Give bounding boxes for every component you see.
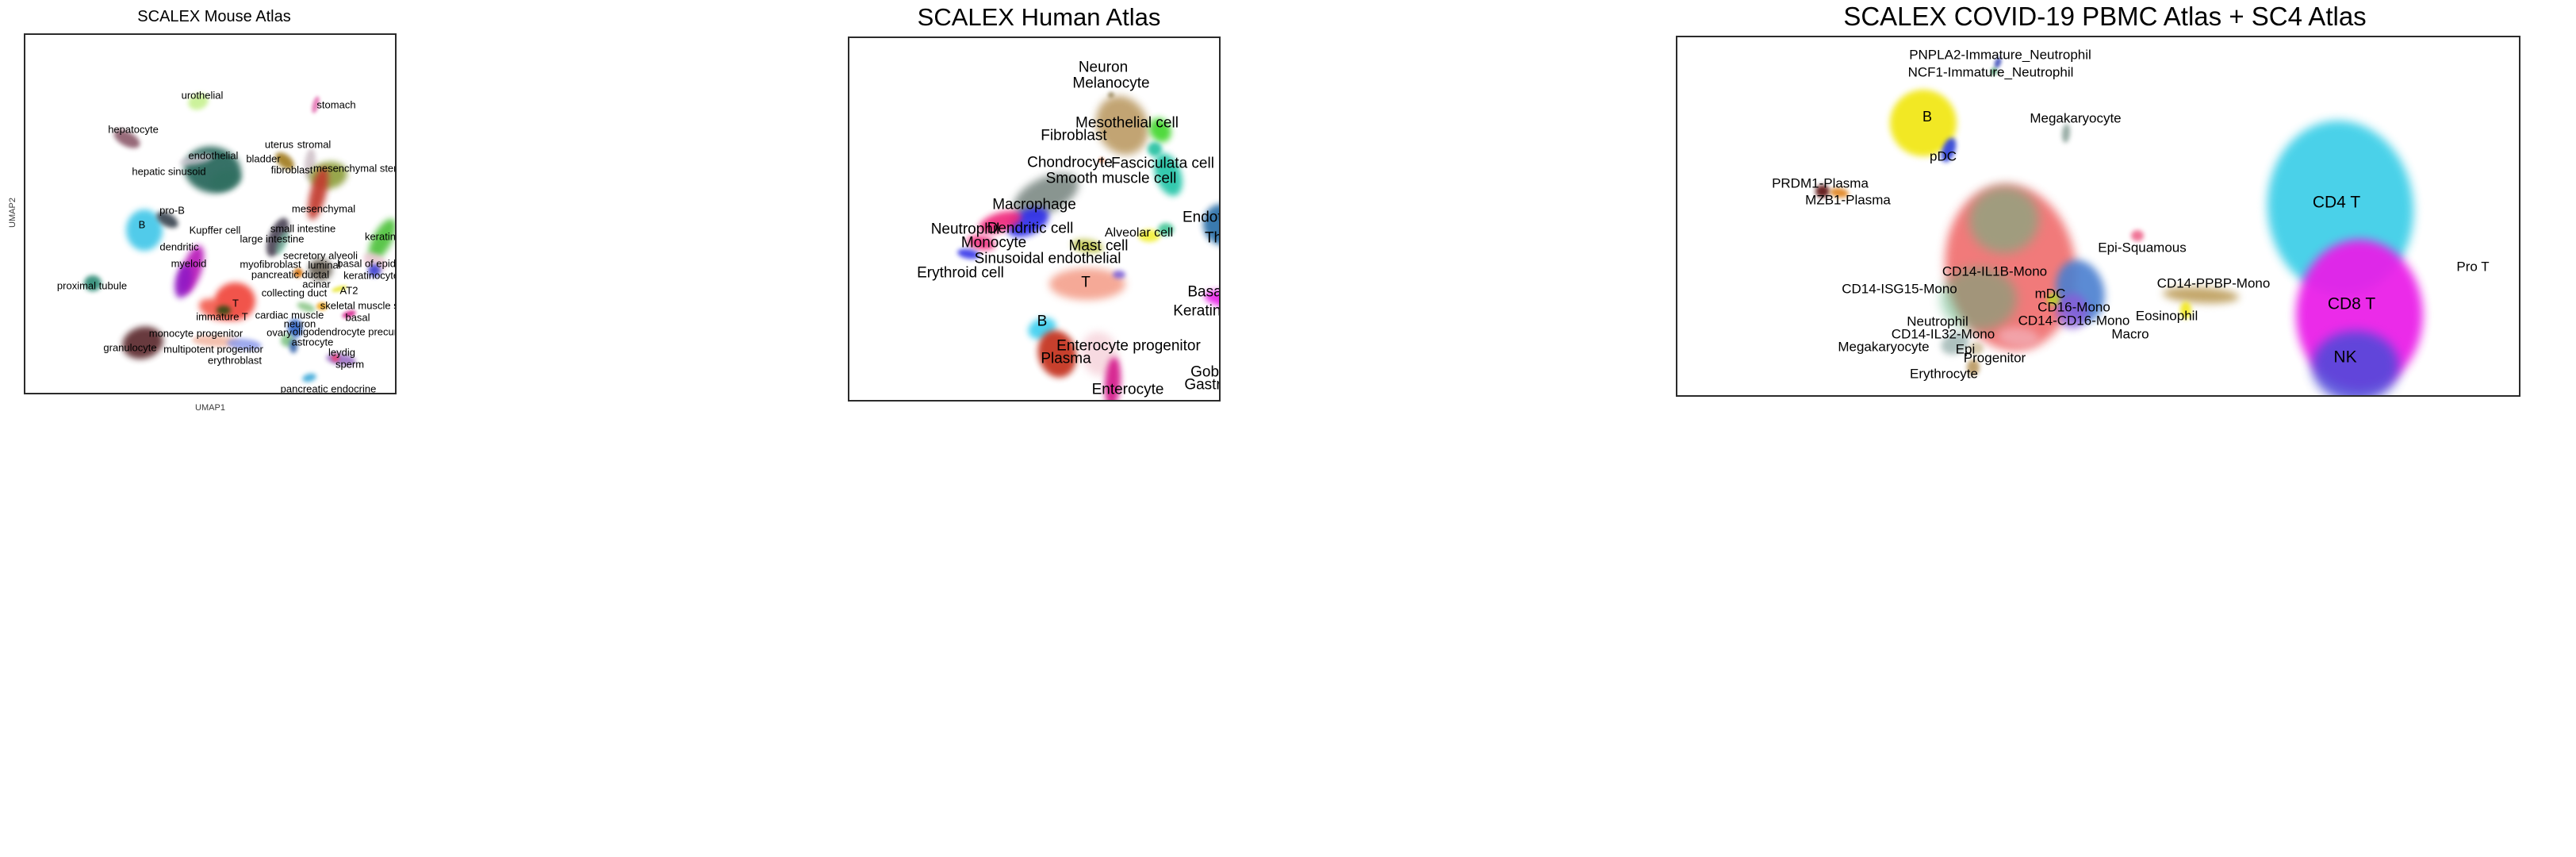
cell-type-label: Gastric chief cell — [1184, 378, 1221, 393]
cell-type-label: keratinocyte — [365, 232, 397, 242]
cell-type-label: pro-B — [159, 206, 185, 216]
cell-type-label: CD16-Mono — [2037, 301, 2110, 314]
panel-mouse-title: SCALEX Mouse Atlas — [0, 8, 428, 26]
cell-type-label: hepatic sinusoid — [132, 167, 205, 177]
cell-type-label: PRDM1-Plasma — [1772, 177, 1869, 190]
cell-type-label: bladder — [246, 154, 280, 164]
cell-type-label: Macrophage — [992, 198, 1076, 213]
cell-type-label: monocyte progenitor — [149, 329, 243, 339]
cell-type-label: erythroblast — [208, 355, 262, 366]
cell-type-label: Erythroid cell — [917, 266, 1004, 281]
cell-type-label: mesenchymal — [292, 204, 355, 214]
cell-type-label: uterus — [265, 140, 293, 150]
cell-type-label: PNPLA2-Immature_Neutrophil — [1909, 48, 2091, 62]
panel-mouse-plot-frame: urothelialstomachhepatocyteuterusstromal… — [24, 33, 397, 394]
cell-type-label: Pro T — [2456, 260, 2489, 274]
panel-mouse-y-axis-label: UMAP2 — [8, 189, 17, 236]
cell-type-label: B — [1922, 110, 1932, 124]
cell-type-label: Megakaryocyte — [2030, 112, 2121, 125]
cell-type-label: Kupffer cell — [190, 225, 241, 236]
panel-mouse-atlas: SCALEX Mouse Atlas urothelialstomachhepa… — [0, 0, 428, 428]
cell-type-label: astrocyte — [292, 337, 334, 348]
cell-type-label: Plasma — [1041, 352, 1091, 367]
cell-type-label: stomach — [316, 100, 355, 110]
cell-type-label: stromal — [297, 140, 332, 150]
cell-type-label: Progenitor — [1964, 352, 2026, 365]
cell-type-label: Megakaryocyte — [1838, 340, 1929, 354]
cell-type-label: B — [139, 220, 146, 230]
panel-mouse-labels: urothelialstomachhepatocyteuterusstromal… — [25, 35, 395, 393]
cell-type-label: multipotent progenitor — [163, 344, 263, 355]
panel-human-title: SCALEX Human Atlas — [825, 3, 1253, 32]
cell-type-label: keratinocyte stem — [343, 271, 397, 281]
cell-type-label: Thyroid follicular cell — [1205, 231, 1221, 246]
cell-type-label: sperm — [335, 359, 364, 370]
cell-type-label: granulocyte — [103, 343, 156, 353]
cell-type-label: basal of epidermis — [337, 259, 397, 269]
cell-type-label: Melanocyte — [1072, 76, 1149, 91]
cell-type-label: Fasciculata cell — [1111, 156, 1214, 171]
cell-type-label: endothelial — [189, 151, 239, 161]
cell-type-label: CD14-PPBP-Mono — [2157, 277, 2271, 290]
cell-type-label: large intestine — [240, 234, 305, 244]
cell-type-label: Eosinophil — [2136, 309, 2198, 323]
cell-type-label: CD14-IL1B-Mono — [1942, 265, 2047, 279]
cell-type-label: Neuron — [1079, 60, 1128, 75]
cell-type-label: urothelial — [182, 90, 224, 101]
panel-covid-title: SCALEX COVID-19 PBMC Atlas + SC4 Atlas — [1634, 2, 2576, 32]
panel-human-labels: NeuronMelanocyteMesothelial cellFibrobla… — [849, 38, 1219, 400]
cell-type-label: B — [1037, 314, 1048, 329]
cell-type-label: immature T — [196, 312, 248, 322]
cell-type-label: CD8 T — [2328, 296, 2375, 313]
cell-type-label: pDC — [1930, 150, 1957, 163]
cell-type-label: proximal tubule — [57, 281, 127, 291]
cell-type-label: mDC — [2035, 287, 2066, 301]
cell-type-label: Chondrocyte — [1027, 156, 1113, 171]
cell-type-label: collecting duct — [262, 288, 327, 298]
cell-type-label: Macro — [2111, 328, 2149, 341]
cell-type-label: basal — [345, 313, 370, 323]
cell-type-label: Erythrocyte — [1910, 367, 1978, 381]
cell-type-label: Smooth muscle cell — [1046, 171, 1177, 186]
cell-type-label: T — [232, 298, 239, 309]
panel-covid-atlas: SCALEX COVID-19 PBMC Atlas + SC4 Atlas P… — [1634, 0, 2576, 428]
cell-type-label: Monocyte — [961, 236, 1026, 251]
panel-human-plot-frame: NeuronMelanocyteMesothelial cellFibrobla… — [848, 37, 1221, 402]
cell-type-label: Enterocyte — [1092, 382, 1164, 398]
cell-type-label: AT2 — [340, 286, 358, 296]
cell-type-label: ovary — [266, 328, 292, 338]
cell-type-label: dendritic — [159, 242, 198, 252]
panel-covid-plot-frame: PNPLA2-Immature_NeutrophilNCF1-Immature_… — [1676, 36, 2520, 397]
scalex-atlas-figure: SCALEX Mouse Atlas urothelialstomachhepa… — [0, 0, 2576, 857]
cell-type-label: CD14-ISG15-Mono — [1842, 282, 1957, 296]
cell-type-label: Epi-Squamous — [2098, 241, 2187, 255]
cell-type-label: Endothelial — [1183, 210, 1221, 225]
cell-type-label: pancreatic endocrine — [281, 384, 377, 394]
cell-type-label: NK — [2333, 349, 2356, 366]
cell-type-label: T — [1081, 275, 1091, 290]
cell-type-label: Fibroblast — [1041, 129, 1106, 144]
cell-type-label: skeletal muscle satellite — [320, 301, 397, 311]
cell-type-label: mesenchymal stem — [313, 163, 397, 174]
cell-type-label: Basal cell — [1187, 285, 1221, 300]
cell-type-label: myeloid — [171, 259, 207, 269]
cell-type-label: hepatocyte — [108, 125, 159, 135]
cell-type-label: NCF1-Immature_Neutrophil — [1908, 66, 2074, 79]
panel-covid-labels: PNPLA2-Immature_NeutrophilNCF1-Immature_… — [1677, 37, 2519, 395]
cell-type-label: Keratinocyte — [1173, 304, 1221, 319]
cell-type-label: fibroblast — [271, 165, 313, 175]
cell-type-label: leydig — [328, 348, 355, 358]
panel-mouse-x-axis-label: UMAP1 — [0, 403, 420, 413]
cell-type-label: MZB1-Plasma — [1805, 194, 1891, 207]
panel-human-atlas: SCALEX Human Atlas NeuronMelanocyteMesot… — [825, 0, 1253, 428]
cell-type-label: CD4 T — [2313, 194, 2360, 211]
cell-type-label: CD14-CD16-Mono — [2018, 314, 2130, 328]
